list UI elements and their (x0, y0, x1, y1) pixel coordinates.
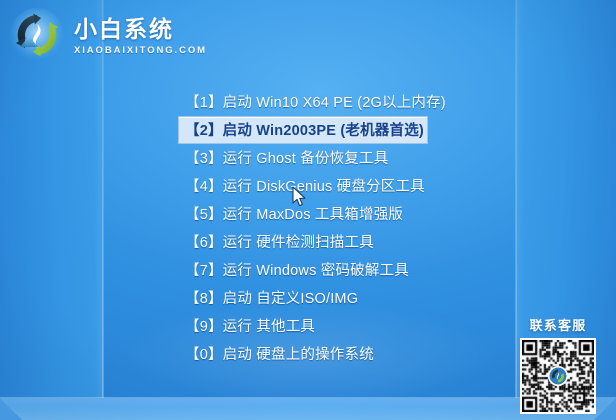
boot-menu-item-label: 【3】运行 Ghost 备份恢复工具 (185, 151, 388, 167)
brand-subtitle: XIAOBAIXITONG.COM (74, 45, 207, 56)
boot-menu-item-label: 【4】运行 DiskGenius 硬盘分区工具 (185, 179, 425, 195)
boot-menu-item-label: 【8】启动 自定义ISO/IMG (185, 291, 358, 307)
brand-text: 小白系统 XIAOBAIXITONG.COM (74, 14, 207, 55)
boot-menu-item-9[interactable]: 【9】运行 其他工具 (178, 312, 428, 340)
boot-menu-item-label: 【9】运行 其他工具 (185, 319, 315, 335)
boot-menu-item-0[interactable]: 【0】启动 硬盘上的操作系统 (178, 340, 428, 368)
support-block: 联系客服 (508, 315, 608, 414)
boot-menu-screen: 小白系统 XIAOBAIXITONG.COM 【1】启动 Win10 X64 P… (0, 0, 616, 420)
boot-menu-item-4[interactable]: 【4】运行 DiskGenius 硬盘分区工具 (178, 172, 428, 200)
boot-menu-item-7[interactable]: 【7】运行 Windows 密码破解工具 (178, 256, 428, 284)
brand-logo: 小白系统 XIAOBAIXITONG.COM (8, 6, 207, 64)
boot-menu-item-8[interactable]: 【8】启动 自定义ISO/IMG (178, 284, 428, 312)
boot-menu-item-3[interactable]: 【3】运行 Ghost 备份恢复工具 (178, 144, 428, 172)
boot-menu-item-1[interactable]: 【1】启动 Win10 X64 PE (2G以上内存) (178, 88, 428, 116)
boot-menu-item-label: 【2】启动 Win2003PE (老机器首选) (185, 123, 424, 139)
boot-menu-item-5[interactable]: 【5】运行 MaxDos 工具箱增强版 (178, 200, 428, 228)
boot-menu-item-label: 【5】运行 MaxDos 工具箱增强版 (185, 207, 403, 223)
boot-menu-list: 【1】启动 Win10 X64 PE (2G以上内存)【2】启动 Win2003… (178, 88, 428, 368)
boot-menu-item-label: 【6】运行 硬件检测扫描工具 (185, 235, 374, 251)
boot-menu-item-2[interactable]: 【2】启动 Win2003PE (老机器首选) (178, 116, 428, 144)
boot-menu-item-label: 【1】启动 Win10 X64 PE (2G以上内存) (185, 95, 446, 111)
support-label: 联系客服 (508, 315, 608, 334)
background-floor-bevel-left (0, 398, 22, 420)
boot-menu-item-label: 【7】运行 Windows 密码破解工具 (185, 263, 409, 279)
brand-logo-icon (550, 368, 567, 385)
brand-title: 小白系统 (74, 16, 207, 42)
qr-code-icon[interactable] (520, 338, 596, 414)
boot-menu-item-label: 【0】启动 硬盘上的操作系统 (185, 347, 374, 363)
recycle-arrows-logo-icon (8, 6, 66, 64)
boot-menu-item-6[interactable]: 【6】运行 硬件检测扫描工具 (178, 228, 428, 256)
